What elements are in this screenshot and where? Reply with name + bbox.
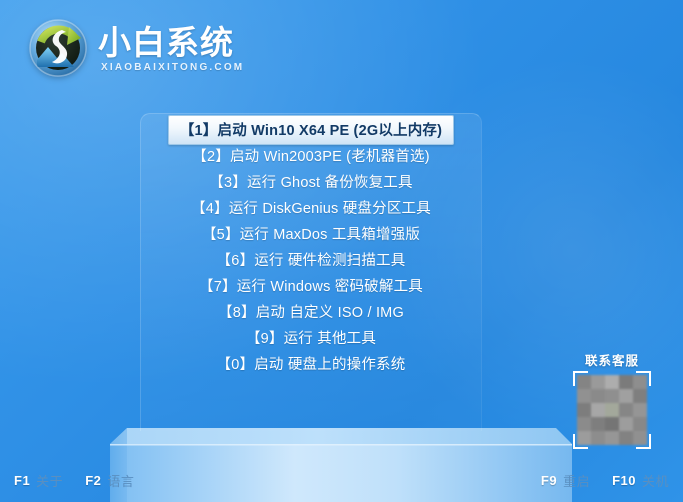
qr-cell (619, 431, 633, 445)
menu-item-3[interactable]: 【3】运行 Ghost 备份恢复工具 (140, 171, 482, 193)
menu-item-label: 启动 自定义 ISO / IMG (256, 305, 404, 321)
status-label-f2: 语言 (107, 471, 134, 490)
qr-cell (619, 417, 633, 431)
status-bar-left: F1关于F2语言 (14, 471, 134, 490)
brand-title: 小白系统 (98, 25, 244, 61)
menu-item-key: 【3】 (209, 175, 247, 191)
menu-item-label: 运行 其他工具 (284, 331, 376, 347)
status-key-f1: F1 (14, 473, 30, 488)
menu-item-key: 【6】 (217, 253, 255, 269)
qr-cell (591, 431, 605, 445)
menu-item-7[interactable]: 【7】运行 Windows 密码破解工具 (140, 275, 482, 297)
menu-item-highlight: 【4】运行 DiskGenius 硬盘分区工具 (180, 194, 442, 222)
contact-support-title: 联系客服 (573, 350, 651, 369)
qr-cell (619, 403, 633, 417)
status-key-f2: F2 (85, 473, 101, 488)
status-bar-right: F9重启F10关机 (541, 471, 669, 490)
menu-item-label: 运行 Ghost 备份恢复工具 (247, 175, 413, 191)
menu-item-highlight: 【6】运行 硬件检测扫描工具 (206, 246, 417, 274)
qr-cell (591, 403, 605, 417)
menu-item-highlight: 【2】启动 Win2003PE (老机器首选) (181, 142, 440, 170)
menu-item-key: 【5】 (202, 227, 240, 243)
qr-cell (577, 403, 591, 417)
brand-subtitle: XIAOBAIXITONG.COM (98, 61, 244, 74)
qr-corner-top-right (636, 371, 651, 386)
menu-item-6[interactable]: 【6】运行 硬件检测扫描工具 (140, 249, 482, 271)
menu-item-highlight: 【9】运行 其他工具 (235, 324, 387, 352)
brand-text: 小白系统 XIAOBAIXITONG.COM (98, 23, 244, 74)
qr-cell (633, 389, 647, 403)
qr-cell (633, 417, 647, 431)
qr-cell (633, 403, 647, 417)
menu-item-key: 【8】 (218, 305, 256, 321)
qr-cell (605, 403, 619, 417)
boot-menu-list[interactable]: 【1】启动 Win10 X64 PE (2G以上内存)【2】启动 Win2003… (140, 113, 482, 379)
qr-cell (605, 389, 619, 403)
qr-cell (591, 375, 605, 389)
menu-item-0[interactable]: 【0】启动 硬盘上的操作系统 (140, 353, 482, 375)
menu-item-highlight: 【8】启动 自定义 ISO / IMG (207, 298, 415, 326)
qr-cell (577, 389, 591, 403)
menu-item-key: 【2】 (192, 149, 230, 165)
qr-cell (605, 417, 619, 431)
menu-item-highlight: 【1】启动 Win10 X64 PE (2G以上内存) (168, 115, 454, 145)
qr-cell (619, 375, 633, 389)
menu-item-label: 运行 硬件检测扫描工具 (254, 253, 405, 269)
menu-item-1[interactable]: 【1】启动 Win10 X64 PE (2G以上内存) (140, 119, 482, 141)
qr-cell (605, 375, 619, 389)
qr-corner-top-left (573, 371, 588, 386)
menu-item-5[interactable]: 【5】运行 MaxDos 工具箱增强版 (140, 223, 482, 245)
boot-menu-screen: 小白系统 XIAOBAIXITONG.COM 【1】启动 Win10 X64 P… (0, 0, 683, 502)
status-label-f10: 关机 (642, 471, 669, 490)
menu-item-4[interactable]: 【4】运行 DiskGenius 硬盘分区工具 (140, 197, 482, 219)
qr-corner-bottom-right (636, 434, 651, 449)
menu-item-key: 【4】 (191, 201, 229, 217)
qr-cell (591, 389, 605, 403)
brand-logo: 小白系统 XIAOBAIXITONG.COM (28, 18, 244, 78)
menu-item-label: 启动 Win10 X64 PE (2G以上内存) (218, 123, 443, 139)
contact-support-panel[interactable]: 联系客服 (573, 350, 651, 447)
menu-item-label: 启动 Win2003PE (老机器首选) (230, 149, 430, 165)
status-key-f9: F9 (541, 473, 557, 488)
menu-item-highlight: 【7】运行 Windows 密码破解工具 (188, 272, 434, 300)
qr-cell (605, 431, 619, 445)
menu-item-label: 运行 DiskGenius 硬盘分区工具 (229, 201, 431, 217)
menu-item-label: 运行 Windows 密码破解工具 (237, 279, 423, 295)
qr-corner-bottom-left (573, 434, 588, 449)
menu-item-highlight: 【5】运行 MaxDos 工具箱增强版 (191, 220, 431, 248)
menu-item-label: 运行 MaxDos 工具箱增强版 (240, 227, 420, 243)
menu-item-highlight: 【3】运行 Ghost 备份恢复工具 (198, 168, 423, 196)
qr-code-icon[interactable] (575, 373, 649, 447)
menu-item-key: 【9】 (246, 331, 284, 347)
menu-item-highlight: 【0】启动 硬盘上的操作系统 (206, 350, 417, 378)
menu-item-9[interactable]: 【9】运行 其他工具 (140, 327, 482, 349)
menu-item-key: 【1】 (180, 123, 218, 139)
status-key-f10: F10 (612, 473, 636, 488)
menu-item-key: 【7】 (199, 279, 237, 295)
qr-cell (577, 417, 591, 431)
menu-item-label: 启动 硬盘上的操作系统 (254, 357, 405, 373)
status-label-f1: 关于 (36, 471, 63, 490)
qr-cell (619, 389, 633, 403)
menu-item-2[interactable]: 【2】启动 Win2003PE (老机器首选) (140, 145, 482, 167)
status-label-f9: 重启 (563, 471, 590, 490)
menu-item-8[interactable]: 【8】启动 自定义 ISO / IMG (140, 301, 482, 323)
qr-cell (591, 417, 605, 431)
circular-recycle-logo-icon (28, 18, 88, 78)
menu-item-key: 【0】 (217, 357, 255, 373)
